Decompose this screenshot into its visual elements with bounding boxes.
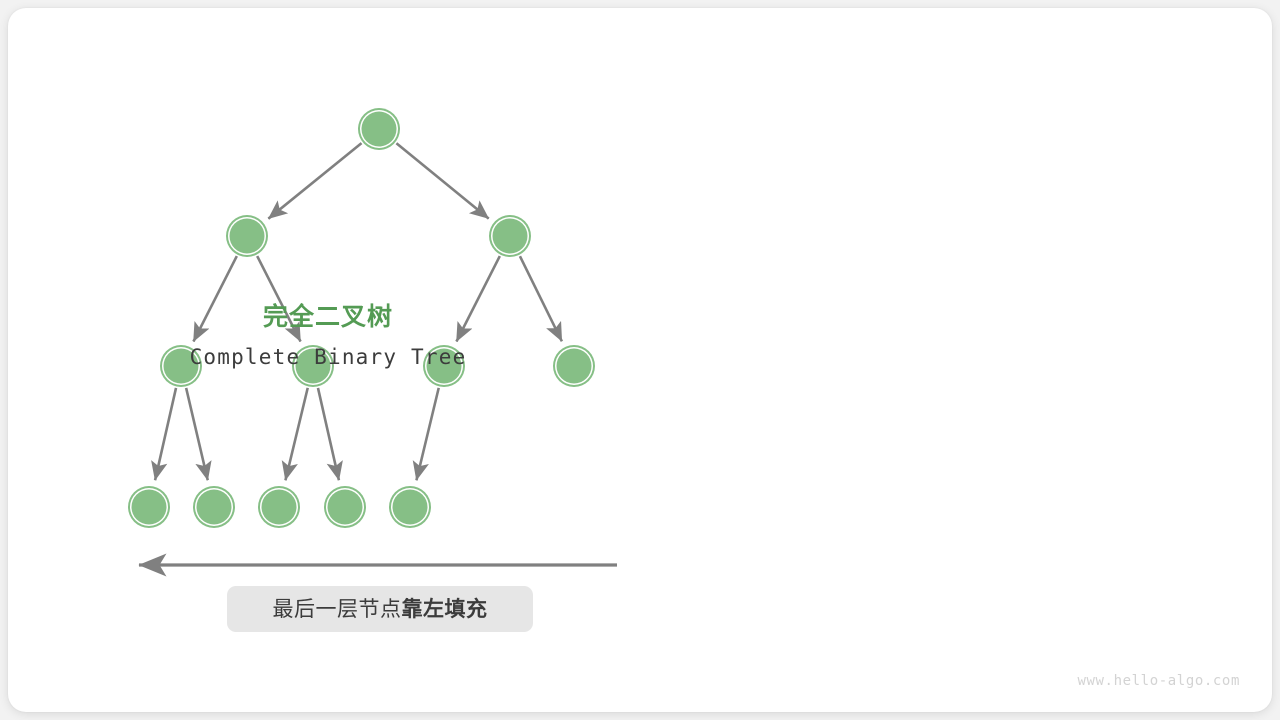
node-fill [427,349,462,384]
node-fill [132,490,167,525]
tree-node [489,215,531,257]
node-fill [557,349,592,384]
tree-edge [155,388,176,480]
tree-node [128,486,170,528]
tree-node [258,486,300,528]
node-fill [328,490,363,525]
tree-edge [416,388,438,480]
tree-node [324,486,366,528]
tree-edge [268,143,361,219]
tree-edge [318,388,339,480]
tree-node [423,345,465,387]
tree-node [160,345,202,387]
node-fill [493,219,528,254]
tree-node [358,108,400,150]
node-fill [296,349,331,384]
node-fill [393,490,428,525]
node-fill [164,349,199,384]
tree-node [292,345,334,387]
node-fill [362,112,397,147]
tree-edge [193,256,236,341]
tree-edge [396,143,488,218]
tree-node [193,486,235,528]
binary-tree-graphic [0,0,1280,720]
tree-edge [520,256,562,341]
tree-edge [257,256,300,341]
tree-edges [155,143,562,480]
tree-nodes [128,108,595,528]
tree-edge [456,256,499,341]
node-fill [197,490,232,525]
diagram-canvas: 完全二叉树 Complete Binary Tree 最后一层节点靠左填充 ww… [0,0,1280,720]
tree-node [389,486,431,528]
tree-node [226,215,268,257]
node-fill [230,219,265,254]
node-fill [262,490,297,525]
tree-node [553,345,595,387]
tree-edge [285,388,307,480]
tree-edge [186,388,208,480]
